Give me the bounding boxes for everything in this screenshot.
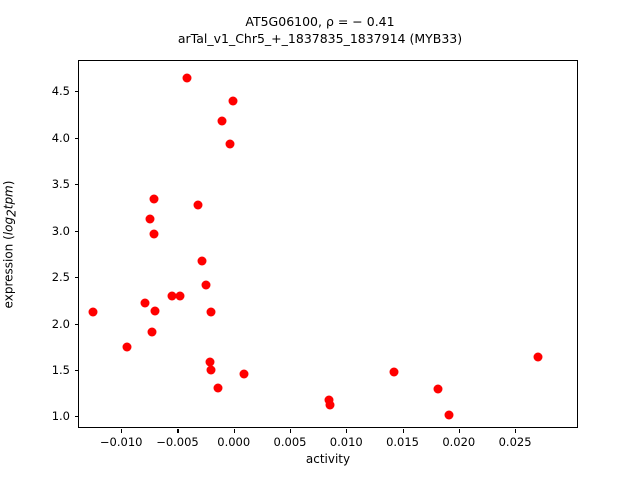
y-tick-label: 3.5 (52, 177, 70, 191)
y-tick-mark (75, 324, 79, 325)
y-tick-mark (75, 370, 79, 371)
x-axis-label: activity (78, 452, 578, 466)
x-tick-label: 0.020 (442, 435, 475, 449)
y-tick-label: 1.5 (52, 363, 70, 377)
y-axis-label-prefix: expression ( (2, 235, 16, 308)
chart-title-line-2: arTal_v1_Chr5_+_1837835_1837914 (MYB33) (0, 31, 640, 48)
data-point (140, 299, 149, 308)
data-point (533, 352, 542, 361)
data-point (88, 308, 97, 317)
x-tick-label: 0.025 (499, 435, 532, 449)
data-point (226, 140, 235, 149)
data-point (175, 291, 184, 300)
x-tick-mark (403, 429, 404, 433)
x-tick-label: 0.015 (386, 435, 419, 449)
y-tick-mark (75, 91, 79, 92)
y-tick-mark (75, 416, 79, 417)
y-tick-label: 4.0 (52, 131, 70, 145)
data-point (148, 327, 157, 336)
y-axis-label-suffix: ) (2, 180, 16, 185)
y-tick-mark (75, 184, 79, 185)
x-tick-mark (234, 429, 235, 433)
data-point (217, 117, 226, 126)
y-axis-label-math-unit: tpm (2, 185, 16, 209)
data-point (150, 195, 159, 204)
data-point (183, 74, 192, 83)
data-point (228, 96, 237, 105)
y-axis-label-math-base: log (2, 216, 16, 234)
y-axis-label-math-sub: 2 (5, 209, 19, 217)
data-point (146, 214, 155, 223)
x-tick-label: −0.005 (156, 435, 199, 449)
data-point (201, 280, 210, 289)
y-tick-label: 2.0 (52, 317, 70, 331)
y-tick-mark (75, 277, 79, 278)
x-tick-mark (177, 429, 178, 433)
scatter-plot-figure: AT5G06100, ρ = − 0.41 arTal_v1_Chr5_+_18… (0, 0, 640, 480)
data-point (150, 307, 159, 316)
data-point (240, 369, 249, 378)
x-tick-mark (290, 429, 291, 433)
x-tick-mark (459, 429, 460, 433)
plot-data-area (79, 61, 577, 427)
data-point (433, 384, 442, 393)
x-tick-label: 0.005 (274, 435, 307, 449)
data-point (193, 200, 202, 209)
data-point (325, 401, 334, 410)
y-tick-label: 3.0 (52, 224, 70, 238)
data-point (213, 383, 222, 392)
x-tick-label: 0.000 (217, 435, 250, 449)
data-point (444, 410, 453, 419)
y-tick-mark (75, 231, 79, 232)
y-tick-label: 4.5 (52, 84, 70, 98)
data-point (197, 257, 206, 266)
data-point (123, 342, 132, 351)
data-point (207, 365, 216, 374)
y-tick-label: 1.0 (52, 409, 70, 423)
data-point (389, 367, 398, 376)
chart-title-line-1: AT5G06100, ρ = − 0.41 (0, 14, 640, 31)
x-tick-label: 0.010 (330, 435, 363, 449)
y-tick-mark (75, 138, 79, 139)
plot-axes: −0.010−0.0050.0000.0050.0100.0150.0200.0… (78, 60, 578, 428)
data-point (150, 230, 159, 239)
y-axis-label-text: expression (log2tpm) (2, 180, 19, 308)
x-tick-mark (346, 429, 347, 433)
chart-title: AT5G06100, ρ = − 0.41 arTal_v1_Chr5_+_18… (0, 14, 640, 48)
data-point (206, 308, 215, 317)
y-axis-label: expression (log2tpm) (0, 60, 20, 428)
y-tick-label: 2.5 (52, 270, 70, 284)
x-tick-mark (515, 429, 516, 433)
x-tick-mark (121, 429, 122, 433)
x-tick-label: −0.010 (100, 435, 143, 449)
